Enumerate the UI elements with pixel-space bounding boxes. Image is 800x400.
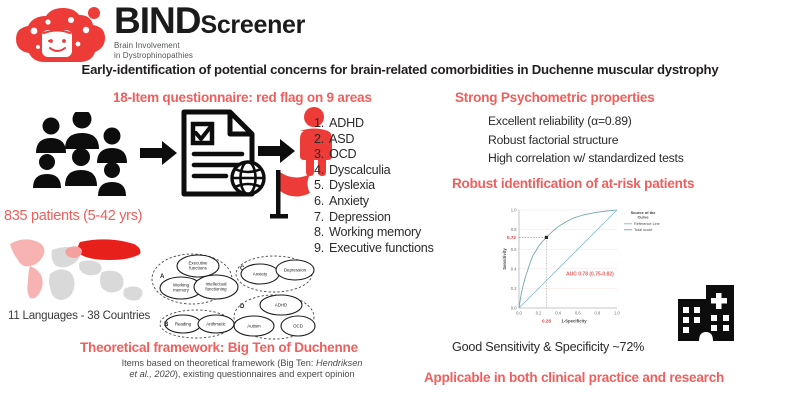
y-tick-0.0: 0.0 (511, 306, 517, 311)
area-item-7: 7.Depression (314, 210, 434, 226)
psychometrics-bullets: Excellent reliability (α=0.89)Robust fac… (488, 112, 684, 168)
area-item-label: OCD (329, 147, 356, 161)
bigten-item-executive-functions-2: functions (189, 265, 207, 270)
area-item-8: 8.Working memory (314, 225, 434, 241)
framework-heading: Theoretical framework: Big Ten of Duchen… (80, 340, 358, 355)
bigten-item-anxiety: Anxiety (253, 272, 268, 277)
y-tick-0.4: 0.4 (511, 266, 517, 271)
area-item-label: ADHD (329, 116, 364, 130)
questionnaire-heading: 18-Item questionnaire: red flag on 9 are… (113, 90, 372, 105)
brand-subtitle: Brain Involvement in Dystrophinopathies (114, 41, 305, 60)
patients-count-label: 835 patients (5-42 yrs) (4, 208, 142, 224)
x-tick-0.2: 0.2 (536, 311, 542, 316)
bigten-group-c: C (240, 266, 245, 272)
area-item-number: 9. (314, 241, 329, 257)
area-item-label: Depression (329, 210, 391, 224)
area-item-4: 4.Dyscalculia (314, 163, 434, 179)
legend-label-reference-line: Reference Line (634, 222, 660, 226)
area-item-label: Dyslexia (329, 178, 375, 192)
bigten-item-depression: Depression (284, 268, 307, 273)
area-item-label: Dyscalculia (329, 163, 391, 177)
auc-annotation: AUC 0.78 (0.75-0.82) (566, 272, 614, 278)
cutoff-point (545, 236, 548, 239)
bigten-group-d: D (240, 304, 245, 310)
framework-subtext: Items based on theoretical framework (Bi… (76, 358, 408, 381)
x-tick-0.8: 0.8 (595, 311, 601, 316)
bigten-group-a: A (160, 274, 165, 280)
x-tick-0.0: 0.0 (516, 311, 522, 316)
y-tick-0.6: 0.6 (511, 247, 517, 252)
area-item-6: 6.Anxiety (314, 194, 434, 210)
cutoff-y-label: 0.72 (507, 235, 516, 240)
applicable-heading: Applicable in both clinical practice and… (424, 370, 724, 385)
roc-curve-chart: 0.00.20.40.60.81.00.00.20.40.60.81.01-Sp… (485, 196, 665, 338)
x-tick-0.4: 0.4 (555, 311, 561, 316)
bigten-item-ocd: OCD (293, 324, 303, 329)
area-item-3: 3.OCD (314, 147, 434, 163)
page-tagline: Early-identification of potential concer… (0, 62, 800, 77)
brand-block: BIND Screener Brain Involvement in Dystr… (114, 2, 305, 60)
area-item-number: 6. (314, 194, 329, 210)
nine-areas-list: 1.ADHD2.ASD3.OCD4.Dyscalculia5.Dyslexia6… (314, 116, 434, 256)
area-item-5: 5.Dyslexia (314, 178, 434, 194)
arrow-right-icon-1 (140, 140, 178, 166)
area-item-number: 2. (314, 132, 329, 148)
x-axis-label: 1-Specificity (561, 319, 587, 324)
area-item-label: ASD (329, 132, 354, 146)
hospital-icon (672, 285, 734, 341)
y-tick-0.8: 0.8 (511, 227, 517, 232)
area-item-number: 7. (314, 210, 329, 226)
area-item-label: Executive functions (329, 241, 434, 255)
robust-heading: Robust identification of at-risk patient… (452, 176, 694, 191)
framework-subtext-part1: Items based on theoretical framework (Bi… (122, 358, 316, 368)
bigten-item-arithmetic: Arithmetic (206, 322, 226, 327)
big-ten-diagram: Executive functions Working memory Intel… (150, 252, 316, 340)
psychometrics-bullet-2: Robust factorial structure (488, 131, 684, 150)
red-flag-icon (270, 168, 318, 222)
world-map-icon (6, 232, 158, 308)
y-axis-label: Sensitivity (502, 248, 507, 270)
area-item-number: 3. (314, 147, 329, 163)
people-group-icon (20, 112, 142, 204)
infographic-root: BIND Screener Brain Involvement in Dystr… (0, 0, 800, 400)
area-item-label: Working memory (329, 225, 421, 239)
area-item-2: 2.ASD (314, 132, 434, 148)
x-tick-1.0: 1.0 (614, 311, 620, 316)
bigten-item-adhd: ADHD (275, 303, 287, 308)
area-item-number: 5. (314, 178, 329, 194)
area-item-number: 8. (314, 225, 329, 241)
y-tick-1.0: 1.0 (511, 208, 517, 213)
cutoff-x-label: 0.28 (542, 319, 551, 324)
bigten-item-working-memory-2: memory (173, 287, 190, 292)
legend-title-line2: Curve (637, 215, 649, 220)
psychometrics-heading: Strong Psychometric properties (455, 90, 655, 105)
psychometrics-bullet-3: High correlation w/ standardized tests (488, 149, 684, 168)
bigten-item-autism: Autism (247, 324, 261, 329)
arrow-right-icon-2 (258, 138, 296, 164)
brand-subtitle-line2: in Dystrophinopathies (114, 51, 305, 61)
area-item-number: 1. (314, 116, 329, 132)
framework-citation-author: Hendriksen (316, 358, 362, 368)
area-item-number: 4. (314, 163, 329, 179)
area-item-1: 1.ADHD (314, 116, 434, 132)
bigten-group-b: B (164, 322, 169, 328)
map-caption: 11 Languages - 38 Countries (8, 310, 150, 322)
framework-citation-year: et al., 2020 (129, 369, 174, 379)
brain-child-logo-icon (8, 4, 112, 66)
y-tick-0.2: 0.2 (511, 286, 517, 291)
bigten-item-reading: Reading (175, 322, 192, 327)
psychometrics-bullet-1: Excellent reliability (α=0.89) (488, 112, 684, 131)
framework-subtext-part2: ), existing questionnaires and expert op… (175, 369, 355, 379)
sensitivity-specificity-label: Good Sensitivity & Specificity ~72% (452, 340, 644, 354)
x-tick-0.6: 0.6 (575, 311, 581, 316)
brand-name-bind: BIND (114, 2, 200, 40)
brand-subtitle-line1: Brain Involvement (114, 41, 305, 51)
area-item-9: 9.Executive functions (314, 241, 434, 257)
bigten-item-intellectual-functioning-2: functioning (205, 286, 227, 291)
brand-name-screener: Screener (200, 11, 305, 40)
area-item-label: Anxiety (329, 194, 369, 208)
legend-label-total-score: Total score (634, 228, 652, 232)
